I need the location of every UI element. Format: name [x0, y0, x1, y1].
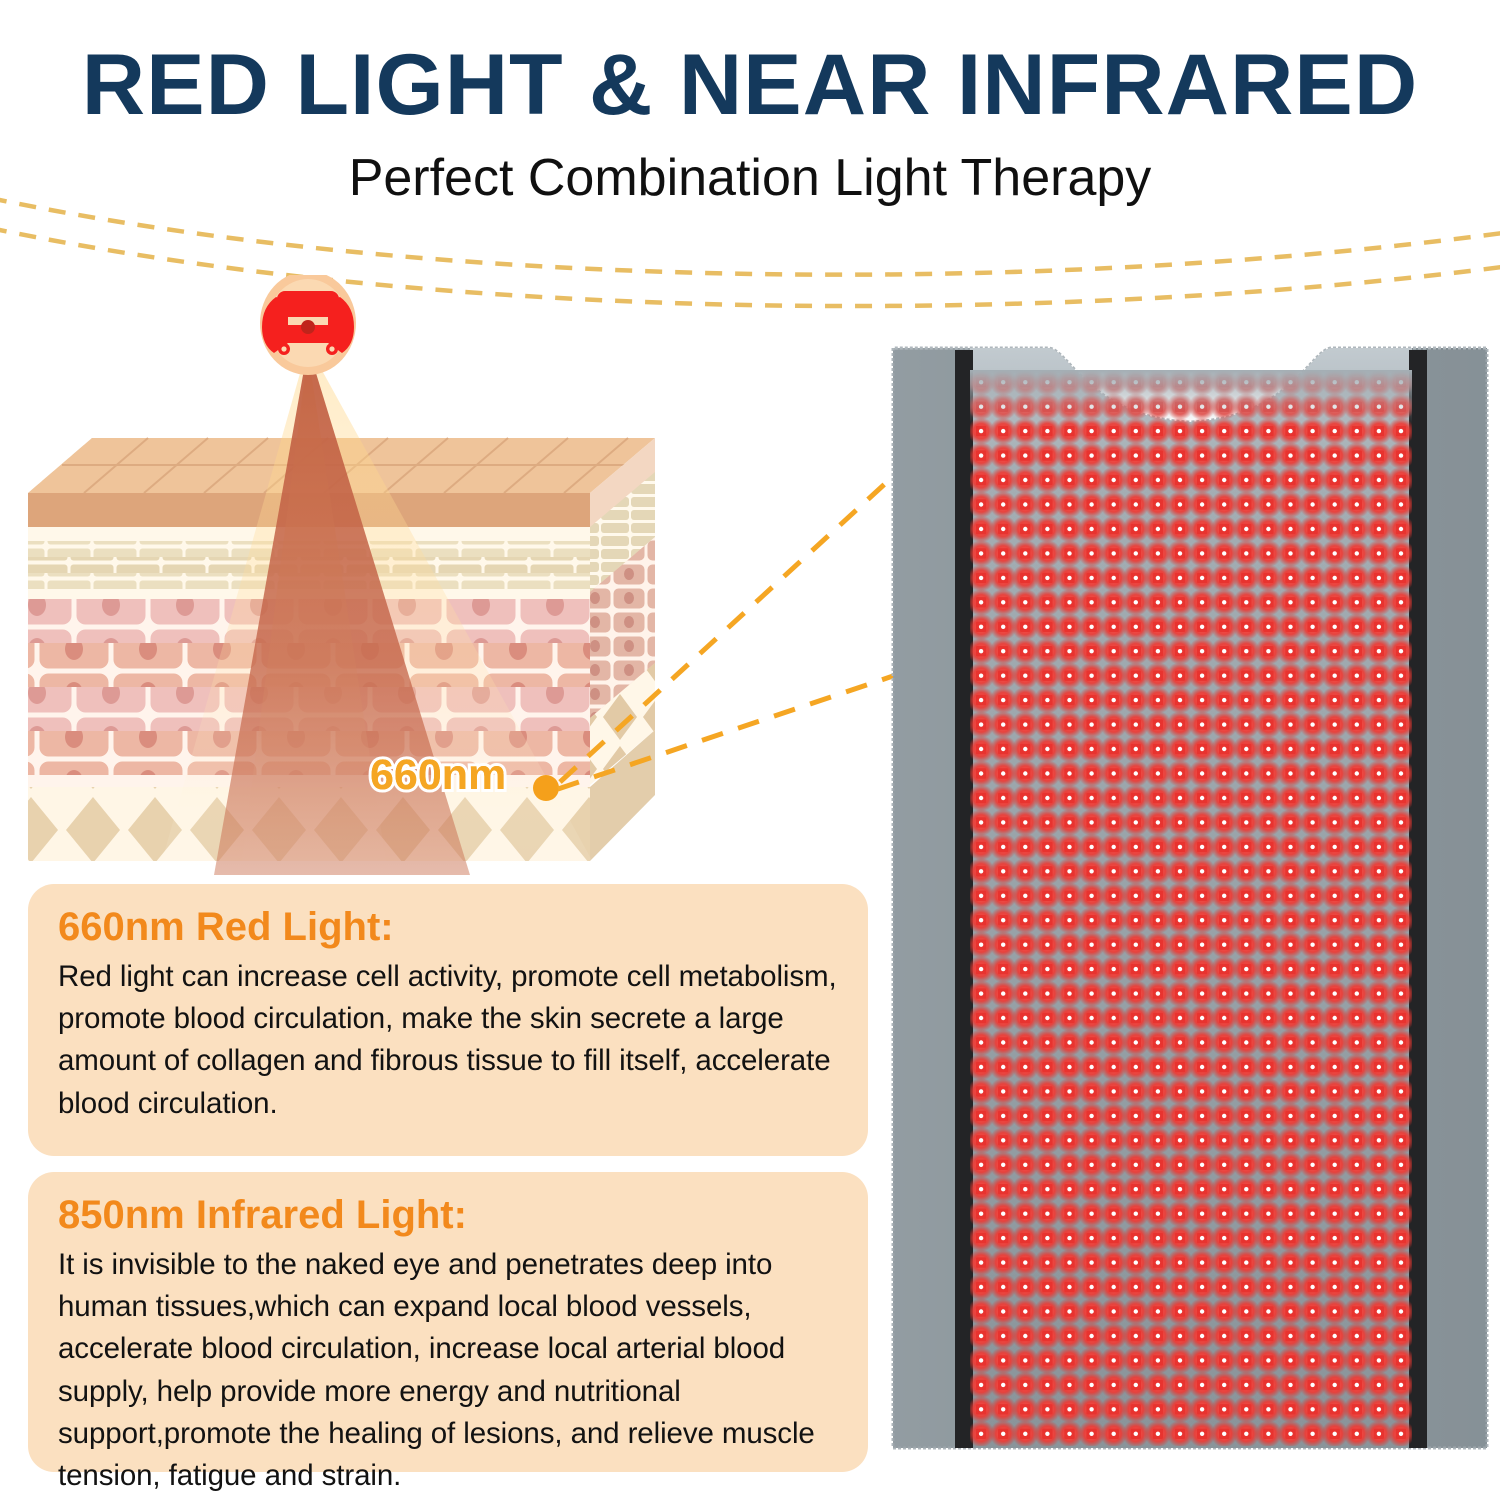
led-array: [970, 370, 1412, 1446]
red-light-led-emitter-icon: [260, 275, 356, 375]
marker-dot-660nm: [533, 775, 559, 801]
skin-right-face: [590, 438, 655, 785]
page-title: RED LIGHT & NEAR INFRARED: [0, 42, 1500, 128]
header: RED LIGHT & NEAR INFRARED Perfect Combin…: [0, 0, 1500, 240]
skin-layers-illustration: [0, 275, 700, 875]
led-array-svg: [970, 370, 1412, 1446]
info-box-850nm-body: It is invisible to the naked eye and pen…: [58, 1244, 838, 1497]
skin-cross-section-diagram: 660nm 660nm 850nm 850nm: [0, 275, 700, 875]
info-box-660nm-body: Red light can increase cell activity, pr…: [58, 956, 838, 1125]
info-box-660nm-heading: 660nm Red Light:: [58, 904, 838, 950]
red-light-therapy-pad: [891, 322, 1489, 1452]
info-box-660nm: 660nm Red Light: Red light can increase …: [28, 884, 868, 1156]
infographic-canvas: RED LIGHT & NEAR INFRARED Perfect Combin…: [0, 0, 1500, 1500]
info-box-850nm-heading: 850nm Infrared Light:: [58, 1192, 838, 1238]
label-660nm: 660nm 660nm: [370, 754, 506, 797]
info-box-850nm: 850nm Infrared Light: It is invisible to…: [28, 1172, 868, 1472]
